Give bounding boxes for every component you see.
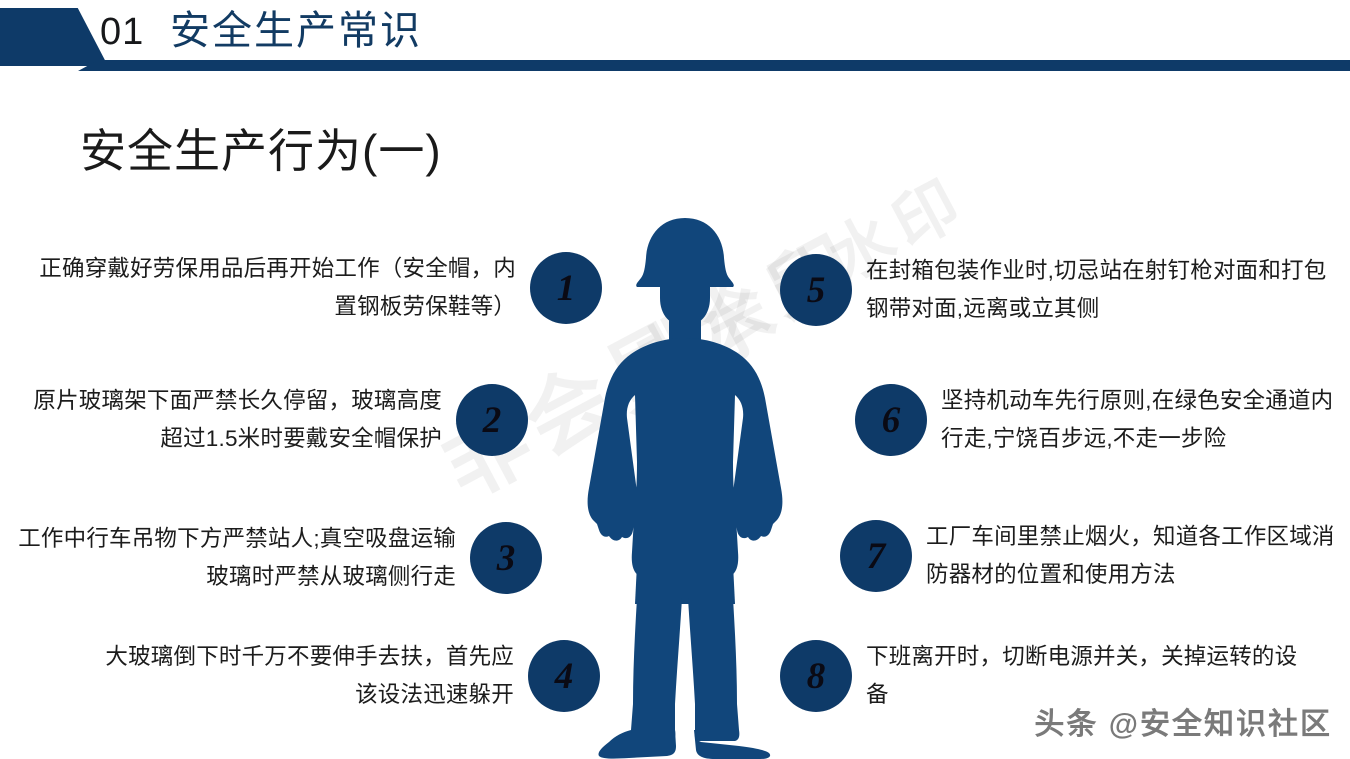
bullet-badge-1[interactable]: 1 bbox=[530, 252, 602, 324]
bullet-badge-4[interactable]: 4 bbox=[528, 640, 600, 712]
bullet-text-4: 大玻璃倒下时千万不要伸手去扶，首先应该设法迅速躲开 bbox=[100, 638, 514, 714]
bullet-row-1[interactable]: 正确穿戴好劳保用品后再开始工作（安全帽，内置钢板劳保鞋等） 1 bbox=[34, 250, 602, 326]
bullet-badge-7[interactable]: 7 bbox=[840, 520, 912, 592]
bullet-text-8: 下班离开时，切断电源并关，关掉运转的设备 bbox=[866, 638, 1300, 714]
bullet-row-7[interactable]: 7 工厂车间里禁止烟火，知道各工作区域消防器材的位置和使用方法 bbox=[840, 518, 1340, 594]
bullet-row-8[interactable]: 8 下班离开时，切断电源并关，关掉运转的设备 bbox=[780, 638, 1300, 714]
worker-silhouette-icon bbox=[575, 212, 795, 759]
bullet-text-3: 工作中行车吊物下方严禁站人;真空吸盘运输玻璃时严禁从玻璃侧行走 bbox=[14, 520, 456, 596]
bullet-badge-3[interactable]: 3 bbox=[470, 522, 542, 594]
slide-header: 01 安全生产常识 bbox=[0, 0, 1350, 80]
header-section-number: 01 bbox=[100, 8, 144, 56]
bullet-badge-2[interactable]: 2 bbox=[456, 384, 528, 456]
bullet-badge-8[interactable]: 8 bbox=[780, 640, 852, 712]
bullet-badge-5[interactable]: 5 bbox=[780, 254, 852, 326]
bullet-row-5[interactable]: 5 在封箱包装作业时,切忌站在射钉枪对面和打包钢带对面,远离或立其侧 bbox=[780, 252, 1340, 328]
bullet-text-5: 在封箱包装作业时,切忌站在射钉枪对面和打包钢带对面,远离或立其侧 bbox=[866, 252, 1340, 328]
header-section-title: 安全生产常识 bbox=[170, 4, 422, 58]
bullet-badge-6[interactable]: 6 bbox=[855, 384, 927, 456]
page-title: 安全生产行为(一) bbox=[80, 118, 442, 184]
header-accent-shape bbox=[0, 8, 108, 66]
bullet-row-2[interactable]: 原片玻璃架下面严禁长久停留，玻璃高度超过1.5米时要戴安全帽保护 2 bbox=[14, 382, 528, 458]
bullet-text-1: 正确穿戴好劳保用品后再开始工作（安全帽，内置钢板劳保鞋等） bbox=[34, 250, 516, 326]
bullet-row-6[interactable]: 6 坚持机动车先行原则,在绿色安全通道内行走,宁饶百步远,不走一步险 bbox=[855, 382, 1345, 458]
bullet-text-7: 工厂车间里禁止烟火，知道各工作区域消防器材的位置和使用方法 bbox=[926, 518, 1340, 594]
header-divider-bar bbox=[78, 60, 1350, 71]
slide-canvas: 01 安全生产常识 安全生产行为(一) 非会员水印 非会员水印 bbox=[0, 0, 1350, 759]
bullet-row-4[interactable]: 大玻璃倒下时千万不要伸手去扶，首先应该设法迅速躲开 4 bbox=[100, 638, 600, 714]
bullet-row-3[interactable]: 工作中行车吊物下方严禁站人;真空吸盘运输玻璃时严禁从玻璃侧行走 3 bbox=[14, 520, 542, 596]
bullet-text-6: 坚持机动车先行原则,在绿色安全通道内行走,宁饶百步远,不走一步险 bbox=[941, 382, 1345, 458]
bullet-text-2: 原片玻璃架下面严禁长久停留，玻璃高度超过1.5米时要戴安全帽保护 bbox=[14, 382, 442, 458]
